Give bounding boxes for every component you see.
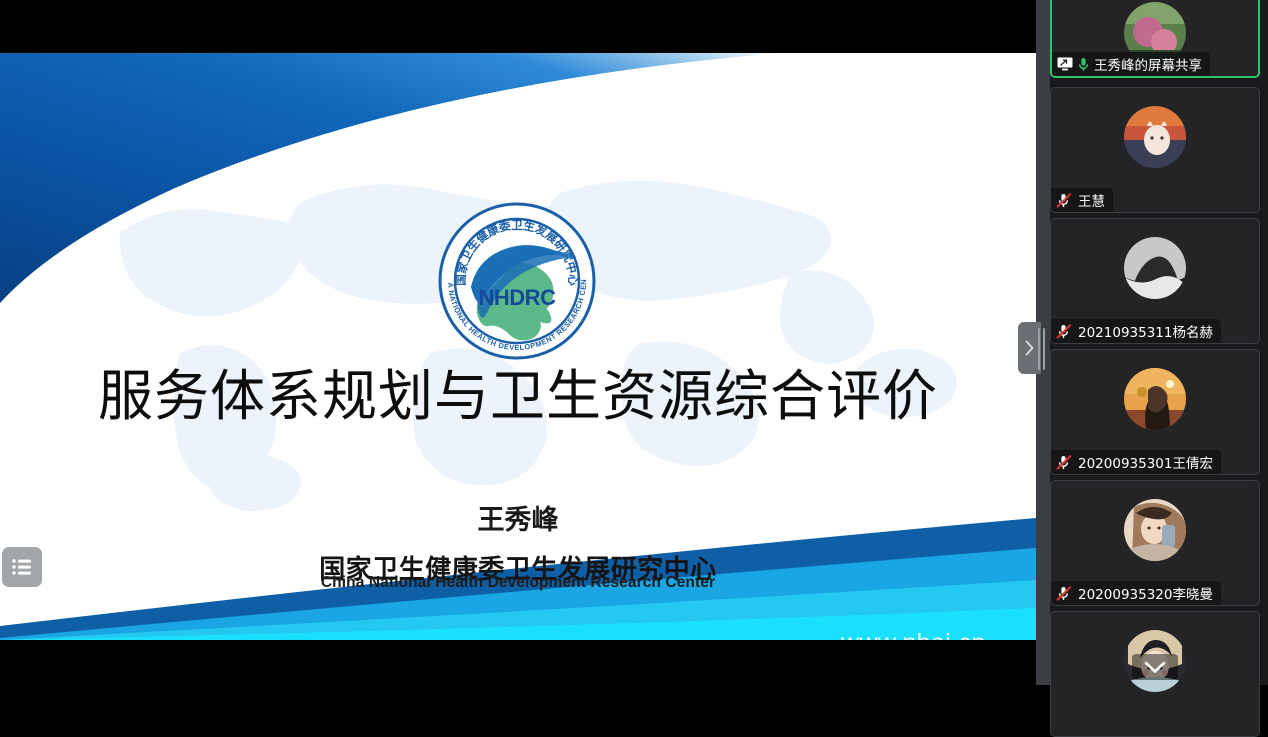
- panel-resize-handle[interactable]: [1038, 328, 1047, 370]
- participant-label: 20200935320李晓曼: [1051, 581, 1221, 605]
- participant-label: 20210935311杨名赫: [1051, 319, 1221, 343]
- avatar: [1124, 237, 1186, 299]
- chevron-right-icon: [1024, 340, 1035, 356]
- nhdrc-logo: 国家卫生健康委卫生发展研究中心 CHINA NATIONAL HEALTH DE…: [437, 201, 597, 361]
- microphone-muted-icon: [1056, 193, 1073, 208]
- zoom-meeting-window: 国家卫生健康委卫生发展研究中心 CHINA NATIONAL HEALTH DE…: [0, 0, 1268, 685]
- microphone-muted-icon: [1056, 324, 1073, 339]
- participant-tile[interactable]: 20200935320李晓曼: [1050, 480, 1260, 606]
- avatar: [1124, 368, 1186, 430]
- participant-name: 20200935320李晓曼: [1078, 583, 1213, 603]
- svg-text:NHDRC: NHDRC: [479, 285, 557, 310]
- participant-tile[interactable]: 20200935301王倩宏: [1050, 349, 1260, 475]
- presentation-slide: 国家卫生健康委卫生发展研究中心 CHINA NATIONAL HEALTH DE…: [0, 53, 1036, 640]
- participant-label: 20200935301王倩宏: [1051, 450, 1221, 474]
- slide-title: 服务体系规划与卫生资源综合评价: [0, 368, 1036, 426]
- shared-screen-area[interactable]: 国家卫生健康委卫生发展研究中心 CHINA NATIONAL HEALTH DE…: [0, 0, 1036, 685]
- participant-name: 王慧: [1078, 190, 1105, 210]
- slide-author: 王秀峰: [0, 498, 1036, 537]
- microphone-muted-icon: [1056, 455, 1073, 470]
- slide-website-url: www.nhei.cn: [841, 629, 986, 640]
- participant-label: 王秀峰的屏幕共享: [1052, 52, 1210, 76]
- participant-tile[interactable]: 20210935311杨名赫: [1050, 218, 1260, 344]
- participant-tile[interactable]: [1050, 611, 1260, 737]
- chevron-down-icon: [1144, 661, 1166, 674]
- bulleted-list-icon: [11, 558, 33, 576]
- participant-label: 王慧: [1051, 188, 1113, 212]
- participant-name: 20200935301王倩宏: [1078, 452, 1213, 472]
- slide-organization-en: China National Health Development Resear…: [0, 574, 1036, 592]
- participants-filmstrip[interactable]: 王秀峰的屏幕共享: [1050, 0, 1268, 685]
- participant-name: 20210935311杨名赫: [1078, 321, 1213, 341]
- slide-bottom-bands-decoration: [0, 440, 1036, 640]
- participant-tile[interactable]: 王慧: [1050, 87, 1260, 213]
- microphone-icon: [1078, 57, 1089, 72]
- scroll-down-button[interactable]: [1132, 654, 1178, 680]
- avatar: [1124, 106, 1186, 168]
- avatar: [1124, 499, 1186, 561]
- list-menu-button[interactable]: [2, 547, 42, 587]
- microphone-muted-icon: [1056, 586, 1073, 601]
- participant-name: 王秀峰的屏幕共享: [1094, 54, 1202, 74]
- screen-share-icon: [1057, 57, 1073, 71]
- participant-tile-sharing[interactable]: 王秀峰的屏幕共享: [1050, 0, 1260, 78]
